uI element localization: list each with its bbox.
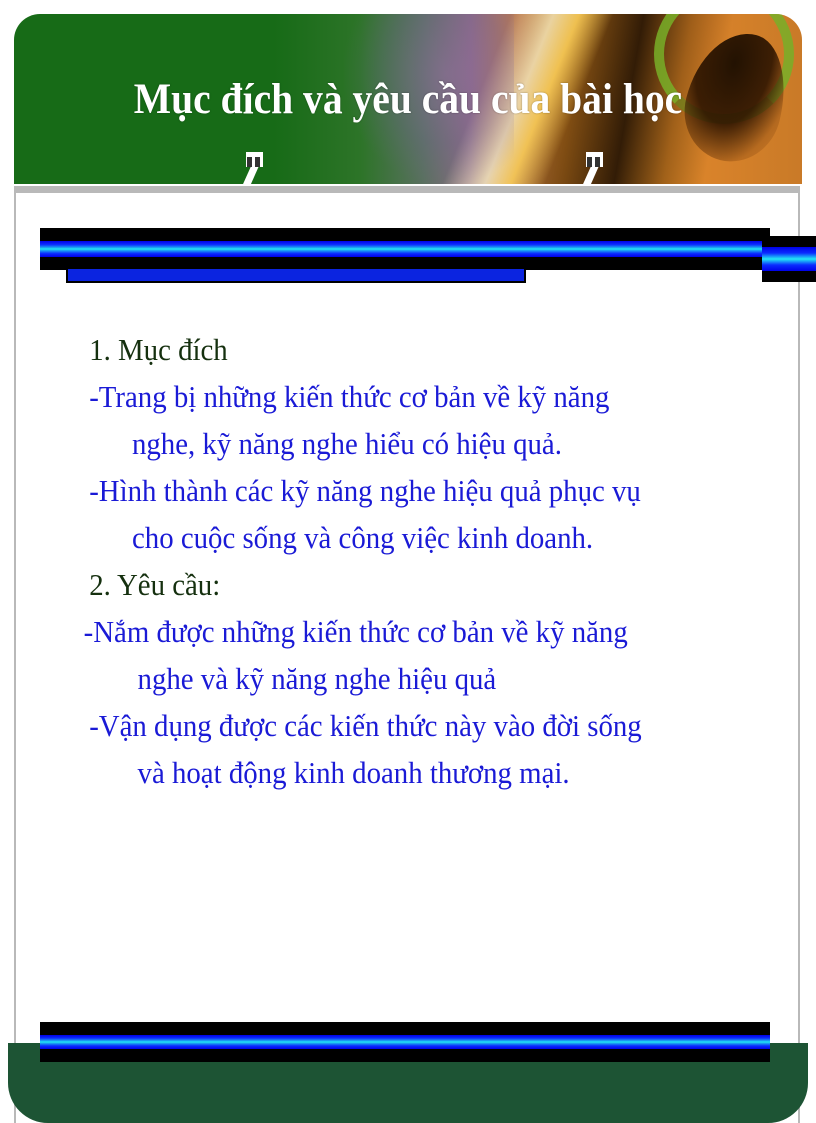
decorative-mark-dot-left [587,157,592,167]
bottom-divider-bar [40,1022,770,1062]
top-divider-bar [40,228,770,270]
body-line-heading-2: 2. Yêu cầu: [52,561,703,608]
body-line-bullet-2: -Hình thành các kỹ năng nghe hiệu quả ph… [52,467,703,514]
slide-header-banner: Mục đích và yêu cầu của bài học [14,14,802,184]
body-line-heading-1: 1. Mục đích [52,326,703,373]
body-line-cont-2: cho cuộc sống và công việc kinh doanh. [52,514,703,561]
decorative-mark-dot-left [247,157,252,167]
decorative-mark-dot-right [255,157,260,167]
top-divider-bar-shadow [66,267,526,283]
body-line-cont-4: và hoạt động kinh doanh thương mại. [52,749,703,796]
body-line-bullet-3: -Nắm được những kiến thức cơ bản về kỹ n… [52,608,703,655]
presentation-slide: Mục đích và yêu cầu của bài học 1. Mục đ… [0,0,816,1123]
decorative-mark-dot-right [595,157,600,167]
body-line-cont-3: nghe và kỹ năng nghe hiệu quả [52,655,703,702]
slide-title: Mục đích và yêu cầu của bài học [46,78,771,121]
top-divider-bar-right-tab [762,236,816,282]
body-line-bullet-4: -Vận dụng được các kiến thức này vào đời… [52,702,703,749]
slide-body-text: 1. Mục đích -Trang bị những kiến thức cơ… [52,326,752,796]
body-line-bullet-1: -Trang bị những kiến thức cơ bản về kỹ n… [52,373,703,420]
body-line-cont-1: nghe, kỹ năng nghe hiểu có hiệu quả. [52,420,703,467]
